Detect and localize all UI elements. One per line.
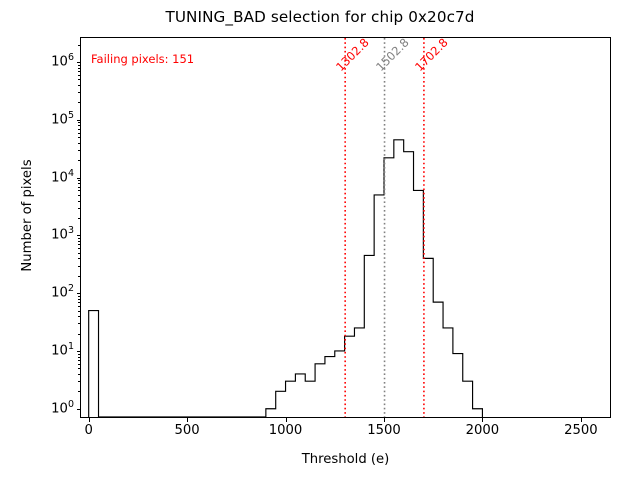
y-minor-tick-mark: [78, 150, 80, 151]
plot-clip: [81, 38, 610, 417]
y-minor-tick-mark: [78, 125, 80, 126]
y-minor-tick-mark: [78, 143, 80, 144]
x-tick-label: 0: [84, 423, 92, 438]
plot-area: Failing pixels: 151: [80, 37, 611, 418]
y-minor-tick-mark: [78, 190, 80, 191]
y-minor-tick-mark: [78, 354, 80, 355]
y-minor-tick-mark: [78, 374, 80, 375]
y-minor-tick-mark: [78, 241, 80, 242]
y-minor-tick-mark: [78, 391, 80, 392]
y-tick-label: 106: [34, 54, 74, 69]
y-minor-tick-mark: [78, 316, 80, 317]
y-minor-tick-mark: [78, 357, 80, 358]
y-minor-tick-mark: [78, 323, 80, 324]
y-tick-label: 100: [34, 401, 74, 416]
y-minor-tick-mark: [78, 201, 80, 202]
y-minor-tick-mark: [78, 208, 80, 209]
y-minor-tick-mark: [78, 68, 80, 69]
y-minor-tick-mark: [78, 334, 80, 335]
y-tick-mark: [77, 120, 81, 121]
y-minor-tick-mark: [78, 381, 80, 382]
y-minor-tick-mark: [78, 253, 80, 254]
x-tick-mark: [482, 418, 483, 422]
x-axis-label: Threshold (e): [80, 452, 611, 467]
y-minor-tick-mark: [78, 187, 80, 188]
vertical-threshold-lines: [345, 38, 424, 417]
y-minor-tick-mark: [78, 276, 80, 277]
y-minor-tick-mark: [78, 71, 80, 72]
y-minor-tick-mark: [78, 180, 80, 181]
y-minor-tick-mark: [78, 65, 80, 66]
y-tick-mark: [77, 409, 81, 410]
y-minor-tick-mark: [78, 195, 80, 196]
y-minor-tick-mark: [78, 160, 80, 161]
y-tick-mark: [77, 62, 81, 63]
y-minor-tick-mark: [78, 85, 80, 86]
y-minor-tick-mark: [78, 248, 80, 249]
x-tick-label: 2500: [564, 423, 598, 438]
y-tick-label: 105: [34, 112, 74, 127]
x-tick-label: 1000: [269, 423, 303, 438]
x-tick-mark: [581, 418, 582, 422]
x-tick-mark: [89, 418, 90, 422]
x-tick-label: 500: [175, 423, 200, 438]
x-tick-mark: [286, 418, 287, 422]
chart-title: TUNING_BAD selection for chip 0x20c7d: [0, 8, 640, 26]
y-tick-mark: [77, 235, 81, 236]
y-minor-tick-mark: [78, 266, 80, 267]
x-tick-mark: [384, 418, 385, 422]
y-tick-label: 103: [34, 228, 74, 243]
y-tick-label: 104: [34, 170, 74, 185]
y-minor-tick-mark: [78, 137, 80, 138]
y-minor-tick-mark: [78, 296, 80, 297]
y-minor-tick-mark: [78, 299, 80, 300]
x-tick-label: 1500: [367, 423, 401, 438]
y-minor-tick-mark: [78, 102, 80, 103]
y-axis-label: Number of pixels: [20, 25, 35, 406]
y-minor-tick-mark: [78, 45, 80, 46]
y-minor-tick-mark: [78, 122, 80, 123]
y-minor-tick-mark: [78, 92, 80, 93]
y-minor-tick-mark: [78, 133, 80, 134]
histogram-svg: [81, 38, 610, 417]
y-tick-mark: [77, 351, 81, 352]
y-minor-tick-mark: [78, 75, 80, 76]
figure-canvas: TUNING_BAD selection for chip 0x20c7d Fa…: [0, 0, 640, 480]
y-tick-mark: [77, 178, 81, 179]
y-minor-tick-mark: [78, 129, 80, 130]
y-tick-label: 101: [34, 343, 74, 358]
y-minor-tick-mark: [78, 368, 80, 369]
y-minor-tick-mark: [78, 311, 80, 312]
x-tick-label: 2000: [466, 423, 500, 438]
y-tick-label: 102: [34, 286, 74, 301]
x-tick-mark: [187, 418, 188, 422]
y-minor-tick-mark: [78, 258, 80, 259]
y-minor-tick-mark: [78, 183, 80, 184]
y-minor-tick-mark: [78, 238, 80, 239]
y-minor-tick-mark: [78, 79, 80, 80]
y-minor-tick-mark: [78, 360, 80, 361]
y-tick-mark: [77, 293, 81, 294]
y-minor-tick-mark: [78, 306, 80, 307]
y-minor-tick-mark: [78, 364, 80, 365]
y-minor-tick-mark: [78, 244, 80, 245]
y-minor-tick-mark: [78, 218, 80, 219]
y-minor-tick-mark: [78, 302, 80, 303]
